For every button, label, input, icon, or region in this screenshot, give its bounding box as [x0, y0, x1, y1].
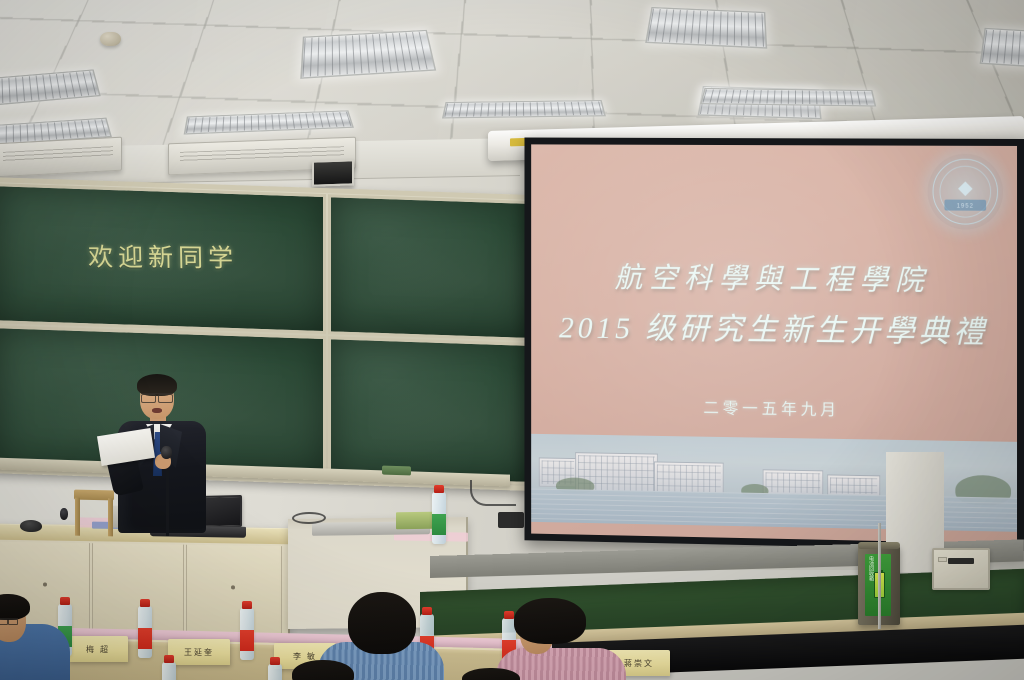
- projection-screen[interactable]: ◆ 1952 航空科學與工程學院 2015 级研究生新生开學典禮 二零一五年九月: [524, 138, 1024, 551]
- floor-plug-box: [498, 512, 524, 528]
- emblem-wing-icon: ◆: [941, 180, 989, 197]
- slide-title-block: 航空科學與工程學院 2015 级研究生新生开學典禮: [531, 254, 1017, 352]
- university-emblem-icon: ◆ 1952: [928, 154, 1003, 230]
- computer-mouse[interactable]: [20, 520, 42, 532]
- photo-water-reflection: [531, 489, 1017, 532]
- bin-label-text: 电池回收箱: [866, 556, 874, 581]
- bottle-cap: [504, 611, 514, 619]
- water-bottle-7[interactable]: [268, 664, 282, 680]
- water-bottle-2[interactable]: [138, 606, 152, 658]
- speaker-mouth: [152, 408, 162, 413]
- slide-date-text: 二零一五年九月: [531, 392, 1017, 423]
- bottle-cap: [164, 655, 174, 663]
- presentation-slide: ◆ 1952 航空科學與工程學院 2015 级研究生新生开學典禮 二零一五年九月: [531, 144, 1017, 543]
- slide-title-line-2: 2015 级研究生新生开學典禮: [531, 302, 1017, 352]
- emblem-year-text: 1952: [928, 203, 1003, 209]
- desk-knob: [231, 585, 235, 589]
- ceiling-light-2: [645, 7, 767, 49]
- name-card-1: 梅 超: [68, 636, 128, 662]
- lecture-hall-scene: 欢迎新同学 ◆ 1952 航空科學與工程學院 2015 级研究生新生开學典禮 二…: [0, 0, 1024, 680]
- photo-building-4: [763, 469, 824, 496]
- bottle-cap: [434, 485, 444, 493]
- bottle-label: [240, 630, 254, 651]
- attendee-right-head: [514, 598, 586, 644]
- wooden-chair[interactable]: [72, 490, 116, 537]
- slide-campus-photo: [531, 434, 1017, 532]
- ceiling-light-8: [442, 100, 606, 118]
- blackboard: [0, 177, 534, 491]
- name-card-2: 王延奎: [168, 639, 230, 665]
- slide-title-line-1: 航空科學與工程學院: [531, 254, 1017, 300]
- battery-recycling-bin[interactable]: 电池回收箱: [858, 545, 900, 625]
- wall-access-panel[interactable]: [932, 548, 990, 590]
- bottle-cap: [242, 601, 252, 609]
- blackboard-panel-bottom-right[interactable]: [328, 336, 528, 485]
- smoke-detector-icon: [100, 32, 121, 46]
- water-bottle-6[interactable]: [162, 662, 176, 680]
- bottle-label: [432, 514, 446, 535]
- air-conditioner-unit-left: [0, 137, 122, 178]
- blackboard-welcome-text: 欢迎新同学: [88, 237, 239, 274]
- panel-slot: [948, 558, 974, 564]
- wall-speaker-box: [312, 159, 354, 186]
- hanging-cable: [470, 480, 516, 506]
- ceiling-light-9: [700, 88, 876, 107]
- bottle-cap: [140, 599, 150, 607]
- desk-door-3[interactable]: [186, 545, 282, 641]
- microphone-icon[interactable]: [161, 446, 172, 459]
- attendee-center-head: [348, 592, 416, 654]
- ceiling-light-1: [300, 30, 436, 79]
- speaker-glasses-icon: [141, 393, 173, 401]
- panel-label-tag: [938, 557, 947, 562]
- name-card-text: 梅 超: [86, 644, 110, 655]
- bottle-cap: [422, 607, 432, 615]
- bottle-cap: [270, 657, 280, 665]
- desk-knob: [43, 582, 47, 586]
- blackboard-eraser[interactable]: [382, 466, 411, 476]
- ceiling-light-4: [980, 28, 1024, 68]
- bottle-label: [138, 628, 152, 649]
- attendee-left-glasses-icon: [0, 618, 18, 623]
- attendee-left-hair: [0, 594, 30, 620]
- chair-leg-right: [108, 498, 113, 536]
- water-bottle-desk[interactable]: [432, 492, 446, 544]
- attendee-far-right-head: [292, 660, 354, 680]
- water-bottle-3[interactable]: [240, 608, 254, 660]
- chair-leg-left: [75, 498, 80, 536]
- bin-support-rod: [878, 523, 881, 629]
- desk-book[interactable]: [396, 512, 434, 529]
- name-card-text: 王延奎: [184, 647, 214, 658]
- blackboard-panel-top-right[interactable]: [328, 194, 528, 341]
- podium-microphone-icon[interactable]: [60, 508, 68, 520]
- ac-vent-icon: [3, 146, 114, 163]
- name-card-text: 蔣崇文: [624, 658, 654, 669]
- bottle-cap: [60, 597, 70, 605]
